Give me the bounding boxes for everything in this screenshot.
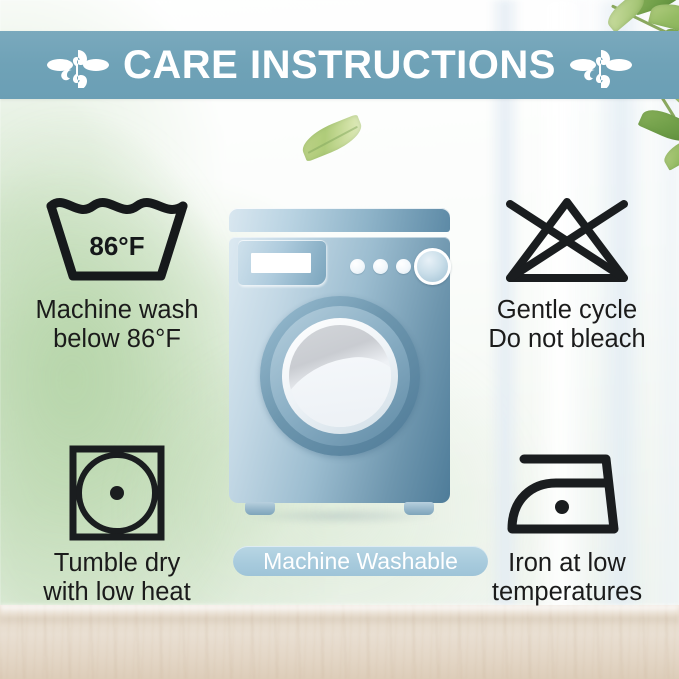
wash-tub-icon: 86°F — [6, 190, 228, 290]
washer-foot-left — [245, 502, 275, 515]
tumble-dry-low-icon — [6, 443, 228, 543]
care-item-tumble-dry: Tumble dry with low heat — [6, 443, 228, 607]
washer-body — [229, 237, 450, 503]
header-banner: CARE INSTRUCTIONS — [0, 31, 679, 99]
washer-door-glass — [289, 325, 391, 427]
detergent-drawer-handle — [251, 253, 311, 273]
wash-temperature-value: 86°F — [6, 231, 228, 262]
status-badge: Machine Washable — [233, 546, 488, 576]
fleur-de-lis-icon-left — [47, 42, 109, 88]
care-item-machine-wash: 86°F Machine wash below 86°F — [6, 190, 228, 354]
iron-low-heat-icon — [458, 443, 676, 543]
program-dial-knob — [414, 248, 451, 285]
washer-door-ring-outer — [270, 306, 410, 446]
washer-door — [260, 296, 420, 456]
washer-top-panel — [229, 208, 450, 232]
care-caption-machine-wash: Machine wash below 86°F — [6, 296, 228, 354]
control-button-1 — [350, 259, 365, 274]
washer-door-ring-inner — [282, 318, 398, 434]
page-title: CARE INSTRUCTIONS — [123, 45, 556, 85]
care-item-do-not-bleach: Gentle cycle Do not bleach — [458, 190, 676, 354]
care-caption-iron-low: Iron at low temperatures — [458, 549, 676, 607]
washer-door-glass-reflection — [289, 351, 391, 427]
washing-machine-illustration — [229, 208, 450, 530]
status-badge-label: Machine Washable — [263, 550, 458, 573]
wood-grain-texture — [0, 605, 679, 679]
care-caption-tumble-dry: Tumble dry with low heat — [6, 549, 228, 607]
detergent-drawer — [238, 240, 326, 285]
table-edge-shadow — [0, 619, 679, 623]
control-button-2 — [373, 259, 388, 274]
triangle-crossed-no-bleach-icon — [458, 190, 676, 290]
care-instructions-graphic: CARE INSTRUCTIONS 86°F Machine wash belo… — [0, 0, 679, 679]
care-item-iron-low: Iron at low temperatures — [458, 443, 676, 607]
care-caption-do-not-bleach: Gentle cycle Do not bleach — [458, 296, 676, 354]
washer-foot-right — [404, 502, 434, 515]
fleur-de-lis-icon-right — [570, 42, 632, 88]
control-button-3 — [396, 259, 411, 274]
wooden-table-surface — [0, 605, 679, 679]
